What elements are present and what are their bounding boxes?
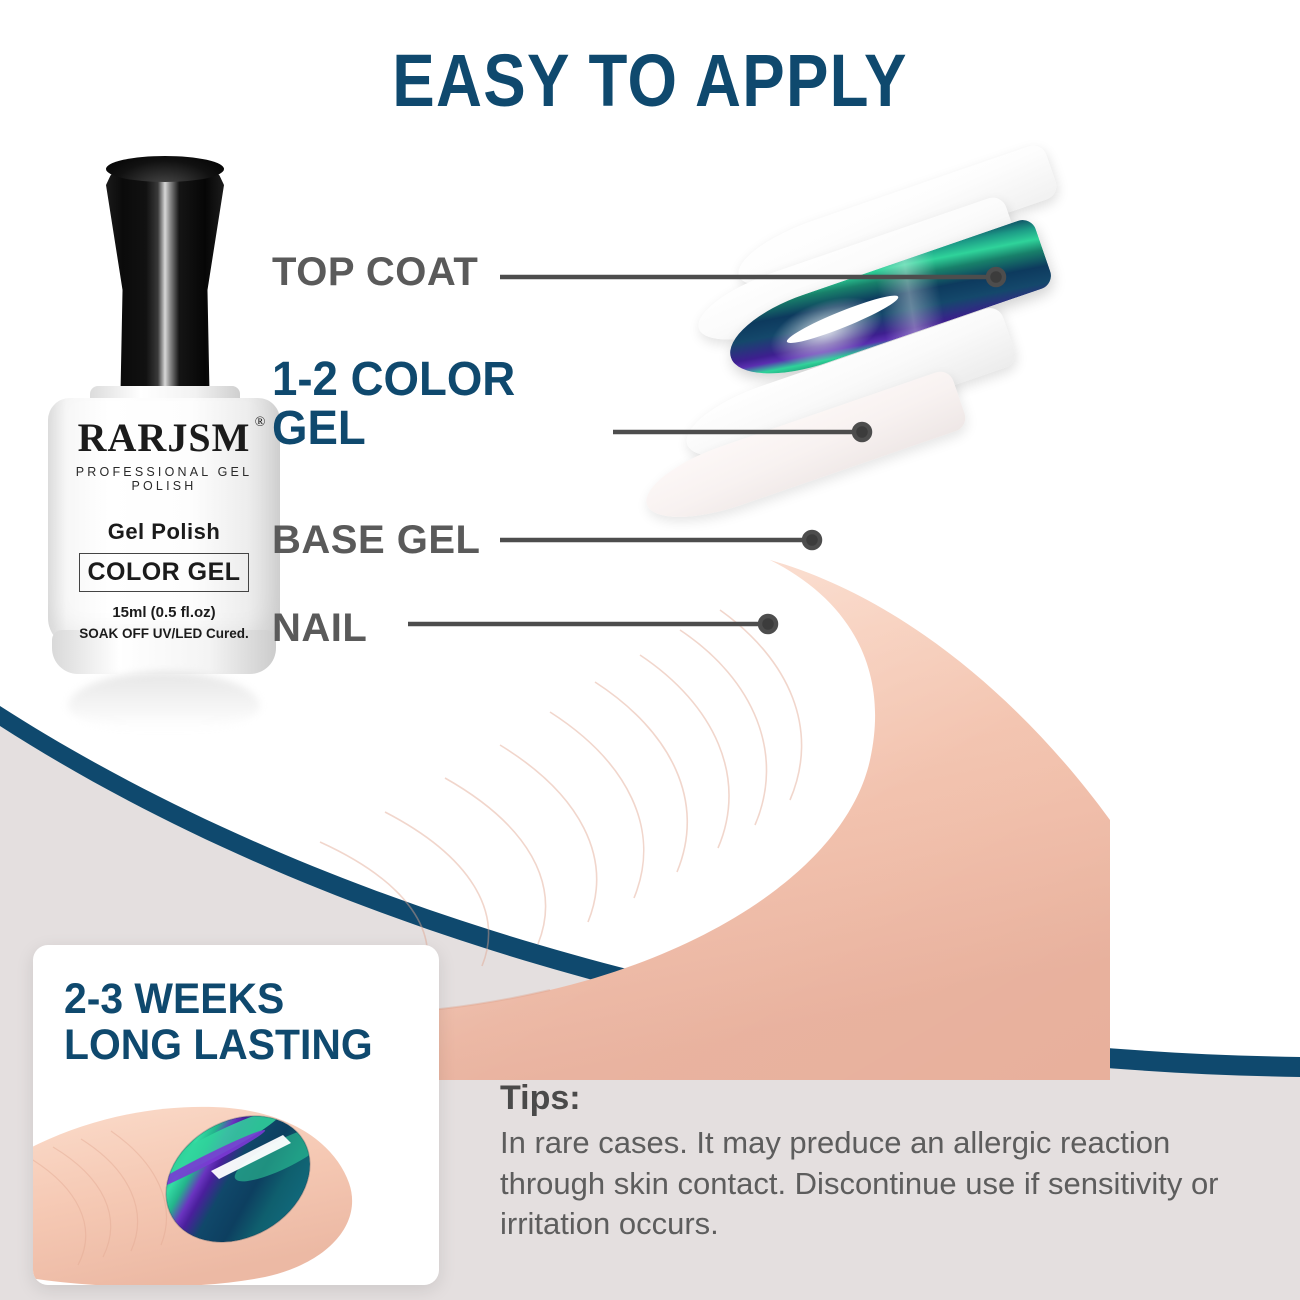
tips-title: Tips:: [500, 1080, 1270, 1117]
brand-name: RARJSM ®: [78, 418, 251, 458]
badge-title: 2-3 WEEKS LONG LASTING: [64, 977, 406, 1068]
badge-nail-photo-svg: [33, 1087, 439, 1285]
product-type-box: COLOR GEL: [79, 553, 249, 592]
bottle-cap: [106, 160, 224, 410]
page-title: EASY TO APPLY: [91, 44, 1209, 118]
brand-tagline: PROFESSIONAL GEL POLISH: [62, 465, 266, 493]
cure-note-text: SOAK OFF UV/LED Cured.: [62, 626, 266, 641]
product-line: Gel Polish: [62, 519, 266, 545]
bottle-cap-top: [106, 156, 224, 182]
volume-text: 15ml (0.5 fl.oz): [62, 604, 266, 621]
label-top-coat: TOP COAT: [272, 252, 478, 293]
label-base-gel: BASE GEL: [272, 520, 480, 561]
bottle-label: RARJSM ® PROFESSIONAL GEL POLISH Gel Pol…: [62, 418, 266, 641]
tips-body: In rare cases. It may preduce an allergi…: [500, 1123, 1270, 1244]
long-lasting-badge-card: 2-3 WEEKS LONG LASTING: [33, 945, 439, 1285]
tips-block: Tips: In rare cases. It may preduce an a…: [500, 1080, 1270, 1244]
infographic-page: EASY TO APPLY RARJSM ® PROFESSIONAL GEL …: [0, 0, 1300, 1300]
registered-mark: ®: [255, 416, 267, 430]
label-nail: NAIL: [272, 608, 367, 649]
brand-text: RARJSM: [78, 415, 251, 460]
label-color-gel: 1-2 COLOR GEL: [272, 356, 515, 454]
badge-nail-photo: [33, 1087, 439, 1285]
